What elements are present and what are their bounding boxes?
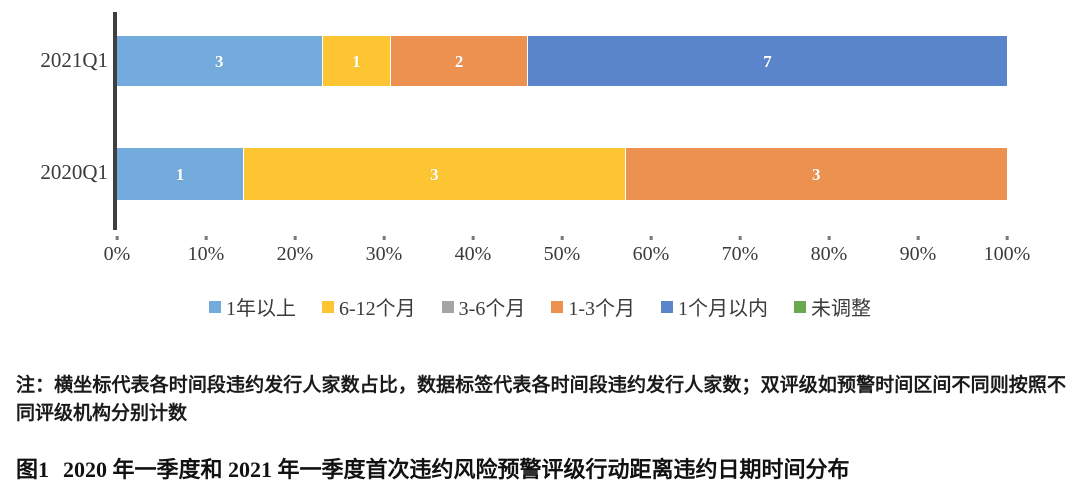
- x-axis-tick: 0%: [104, 236, 131, 266]
- x-axis-tick: 50%: [544, 236, 581, 266]
- legend-item[interactable]: 1个月以内: [661, 292, 768, 321]
- figure-caption-text: 2020 年一季度和 2021 年一季度首次违约风险预警评级行动距离违约日期时间…: [63, 457, 850, 482]
- bar-row: 133: [117, 148, 1007, 200]
- x-axis-tick: 80%: [811, 236, 848, 266]
- legend-item[interactable]: 6-12个月: [322, 292, 416, 321]
- x-axis-tick-label: 100%: [984, 243, 1031, 266]
- bar-segment-label: 3: [215, 53, 224, 70]
- legend-label: 6-12个月: [339, 292, 416, 321]
- category-label-2021q1: 2021Q1: [24, 48, 108, 73]
- x-axis-tick-mark: [560, 236, 563, 240]
- x-axis-tick: 70%: [722, 236, 759, 266]
- x-axis-tick-label: 10%: [188, 243, 225, 266]
- bar-segment: 1: [323, 36, 392, 86]
- chart-legend: 1年以上6-12个月3-6个月1-3个月1个月以内未调整: [0, 292, 1080, 321]
- x-axis-tick: 60%: [633, 236, 670, 266]
- x-axis-tick-mark: [827, 236, 830, 240]
- bar-segment-label: 2: [455, 53, 464, 70]
- x-axis-tick: 40%: [455, 236, 492, 266]
- bar-segment-label: 1: [352, 53, 361, 70]
- figure-number: 图1: [16, 457, 49, 482]
- legend-swatch-icon: [551, 301, 563, 313]
- x-axis-tick-mark: [738, 236, 741, 240]
- legend-item[interactable]: 3-6个月: [442, 292, 526, 321]
- x-axis-tick-mark: [649, 236, 652, 240]
- x-axis-tick-label: 60%: [633, 243, 670, 266]
- bar-segment-label: 3: [430, 166, 439, 183]
- x-axis-tick: 100%: [984, 236, 1031, 266]
- legend-label: 3-6个月: [459, 292, 526, 321]
- x-axis: 0%10%20%30%40%50%60%70%80%90%100%: [117, 236, 1007, 270]
- bar-segment-label: 7: [763, 53, 772, 70]
- legend-swatch-icon: [322, 301, 334, 313]
- legend-label: 1年以上: [226, 292, 296, 321]
- x-axis-tick-label: 70%: [722, 243, 759, 266]
- legend-item[interactable]: 未调整: [794, 292, 871, 321]
- x-axis-tick-label: 20%: [277, 243, 314, 266]
- category-label-2020q1: 2020Q1: [24, 160, 108, 185]
- legend-label: 未调整: [811, 292, 871, 321]
- legend-swatch-icon: [442, 301, 454, 313]
- bar-segment: 3: [626, 148, 1007, 200]
- bar-segment-label: 1: [176, 166, 185, 183]
- bar-segment-label: 3: [812, 166, 821, 183]
- x-axis-tick-label: 0%: [104, 243, 131, 266]
- bar-segment: 2: [391, 36, 528, 86]
- x-axis-tick: 20%: [277, 236, 314, 266]
- bar-row: 3127: [117, 36, 1007, 86]
- plot-area: 3127 133: [117, 14, 1007, 242]
- x-axis-tick-mark: [115, 236, 118, 240]
- legend-label: 1-3个月: [568, 292, 635, 321]
- x-axis-tick-mark: [293, 236, 296, 240]
- x-axis-tick-label: 40%: [455, 243, 492, 266]
- x-axis-tick-mark: [1005, 236, 1008, 240]
- legend-item[interactable]: 1年以上: [209, 292, 296, 321]
- x-axis-tick-mark: [382, 236, 385, 240]
- x-axis-tick-mark: [916, 236, 919, 240]
- figure-caption: 图12020 年一季度和 2021 年一季度首次违约风险预警评级行动距离违约日期…: [16, 452, 1066, 484]
- x-axis-tick: 10%: [188, 236, 225, 266]
- legend-label: 1个月以内: [678, 292, 768, 321]
- legend-item[interactable]: 1-3个月: [551, 292, 635, 321]
- chart-note: 注：横坐标代表各时间段违约发行人家数占比，数据标签代表各时间段违约发行人家数；双…: [16, 372, 1066, 427]
- legend-swatch-icon: [209, 301, 221, 313]
- bar-segment: 7: [528, 36, 1007, 86]
- x-axis-tick: 30%: [366, 236, 403, 266]
- bar-segment: 3: [244, 148, 625, 200]
- legend-swatch-icon: [794, 301, 806, 313]
- x-axis-tick-mark: [471, 236, 474, 240]
- x-axis-tick-label: 80%: [811, 243, 848, 266]
- x-axis-tick-label: 90%: [900, 243, 937, 266]
- x-axis-tick: 90%: [900, 236, 937, 266]
- bar-segment: 3: [117, 36, 323, 86]
- x-axis-tick-mark: [204, 236, 207, 240]
- x-axis-tick-label: 30%: [366, 243, 403, 266]
- x-axis-tick-label: 50%: [544, 243, 581, 266]
- stacked-bar-chart: 2021Q1 2020Q1 3127 133 0%10%20%30%40%50%…: [0, 0, 1080, 340]
- bar-segment: 1: [117, 148, 244, 200]
- legend-swatch-icon: [661, 301, 673, 313]
